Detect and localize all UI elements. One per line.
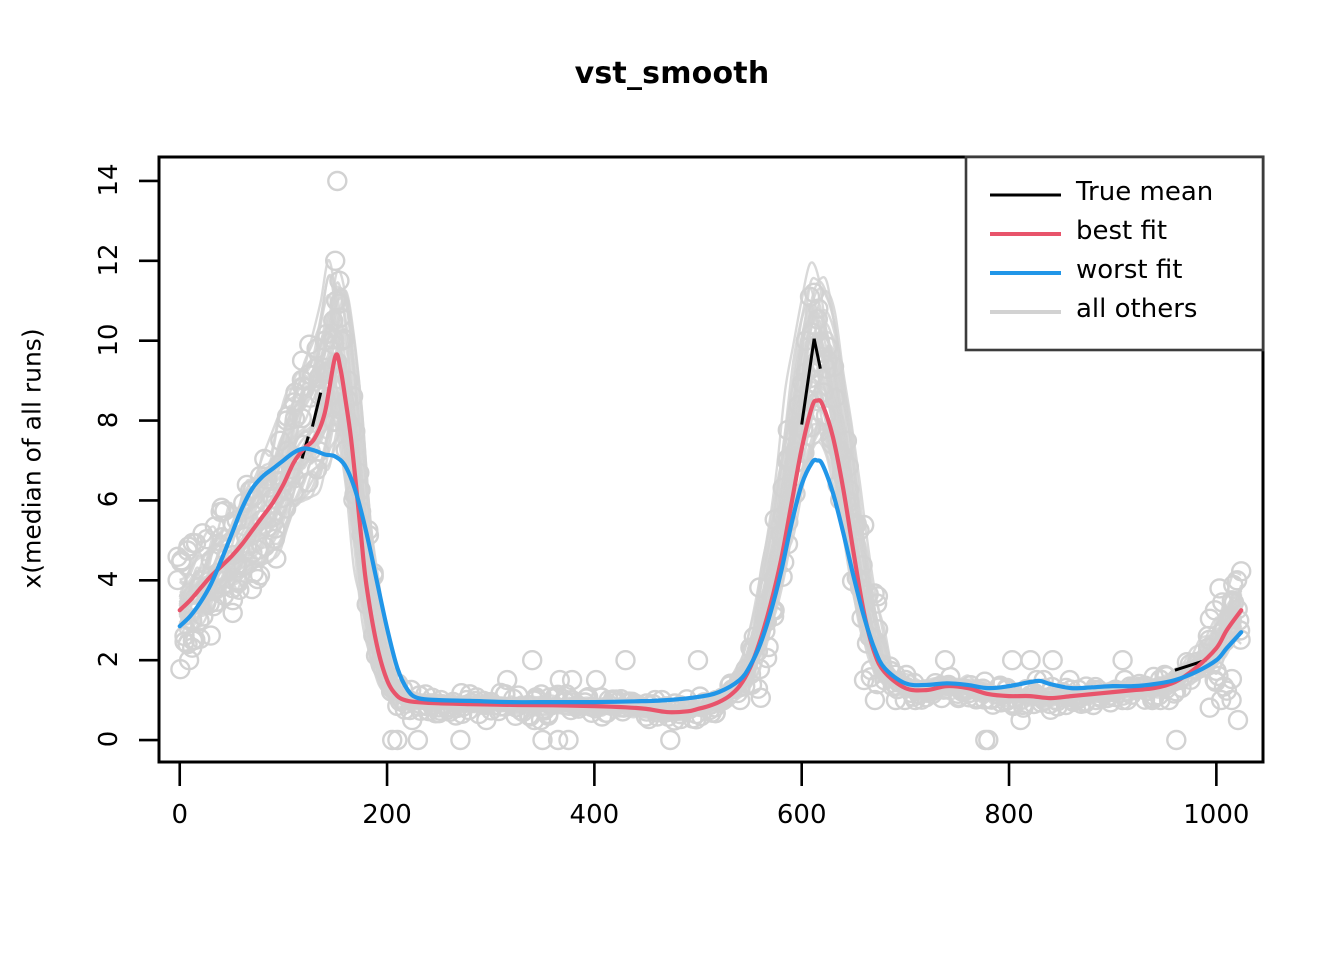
- scatter-point: [409, 731, 427, 749]
- scatter-point: [1003, 651, 1021, 669]
- y-tick-label: 2: [94, 629, 124, 689]
- scatter-point: [617, 651, 635, 669]
- x-tick-label: 600: [742, 800, 862, 830]
- y-tick-label: 12: [94, 230, 124, 290]
- legend-label-all-others: all others: [1076, 294, 1197, 324]
- y-tick-label: 4: [94, 549, 124, 609]
- y-tick-label: 14: [94, 150, 124, 210]
- scatter-point: [560, 731, 578, 749]
- y-tick-label: 8: [94, 390, 124, 450]
- scatter-point: [451, 731, 469, 749]
- scatter-point: [169, 571, 187, 589]
- scatter-point: [661, 731, 679, 749]
- worst-fit-series: [180, 448, 1242, 702]
- scatter-point: [523, 651, 541, 669]
- y-tick-label: 0: [94, 709, 124, 769]
- scatter-point: [328, 172, 346, 190]
- scatter-point: [1022, 651, 1040, 669]
- scatter-point: [587, 671, 605, 689]
- ensemble-run-line: [180, 424, 1242, 716]
- scatter-point: [689, 651, 707, 669]
- x-tick-label: 0: [120, 800, 240, 830]
- legend-label-worst-fit: worst fit: [1076, 255, 1182, 285]
- scatter-point: [1229, 711, 1247, 729]
- scatter-point: [1167, 731, 1185, 749]
- y-tick-label: 6: [94, 469, 124, 529]
- x-tick-label: 1000: [1156, 800, 1276, 830]
- y-tick-label: 10: [94, 310, 124, 370]
- legend-label-true-mean: True mean: [1076, 177, 1213, 207]
- scatter-point: [936, 651, 954, 669]
- x-tick-label: 200: [327, 800, 447, 830]
- legend-label-best-fit: best fit: [1076, 216, 1167, 246]
- x-tick-label: 800: [949, 800, 1069, 830]
- scatter-point: [1114, 651, 1132, 669]
- x-tick-label: 400: [534, 800, 654, 830]
- scatter-point: [1044, 651, 1062, 669]
- chart-figure: vst_smooth x(median of all runs) 0246810…: [0, 0, 1344, 960]
